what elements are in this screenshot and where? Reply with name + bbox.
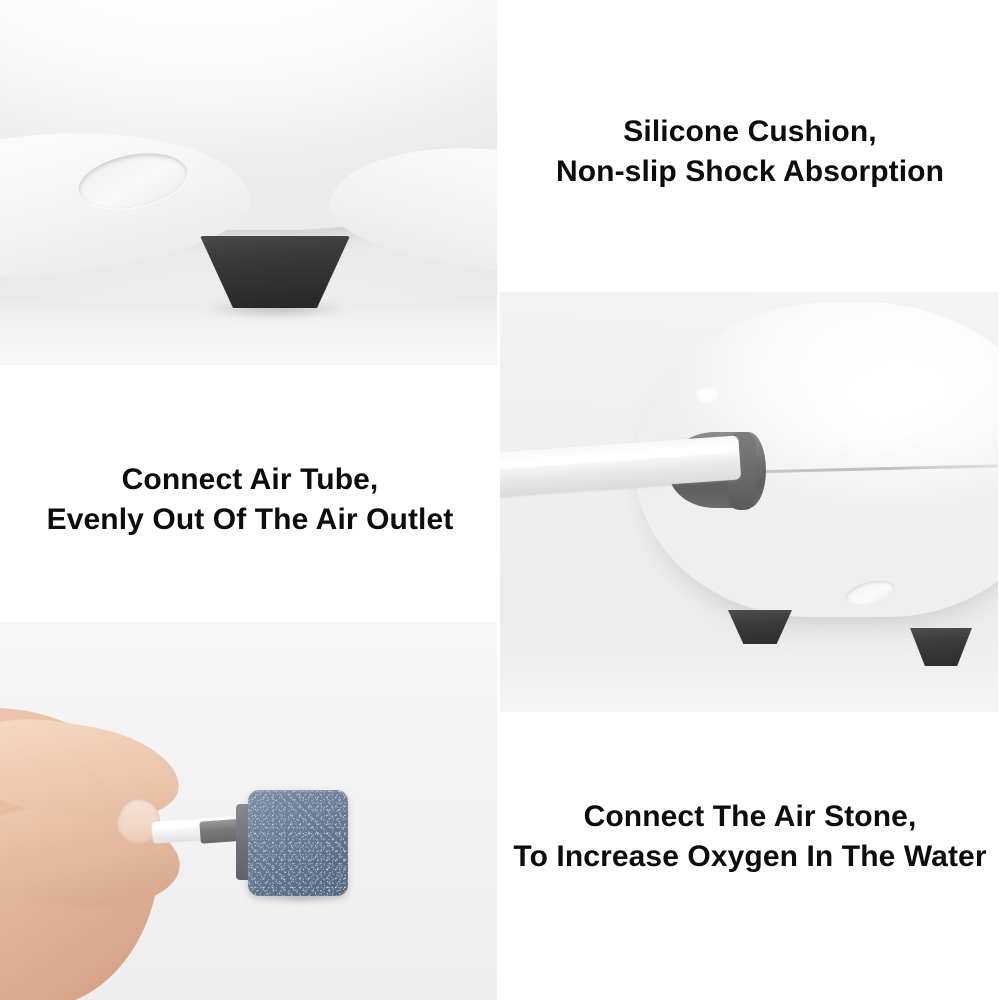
caption-air-stone-line2: To Increase Oxygen In The Water: [500, 837, 1000, 877]
air-outlet-photo: [500, 292, 998, 712]
caption-air-tube-line2: Evenly Out Of The Air Outlet: [0, 500, 500, 540]
caption-air-stone: Connect The Air Stone, To Increase Oxyge…: [500, 797, 1000, 876]
caption-silicone-cushion-line1: Silicone Cushion,: [500, 112, 1000, 152]
caption-silicone-cushion-line2: Non-slip Shock Absorption: [500, 152, 1000, 192]
pump-body-specular-dot: [696, 388, 718, 402]
silicone-foot-photo: [0, 0, 497, 365]
caption-air-stone-line1: Connect The Air Stone,: [500, 797, 1000, 837]
caption-air-tube-line1: Connect Air Tube,: [0, 460, 500, 500]
caption-air-tube: Connect Air Tube, Evenly Out Of The Air …: [0, 460, 500, 539]
caption-silicone-cushion: Silicone Cushion, Non-slip Shock Absorpt…: [500, 112, 1000, 191]
infographic-canvas: Silicone Cushion, Non-slip Shock Absorpt…: [0, 0, 1000, 1000]
air-stone-photo: [0, 622, 497, 1000]
air-stone: [248, 790, 348, 896]
